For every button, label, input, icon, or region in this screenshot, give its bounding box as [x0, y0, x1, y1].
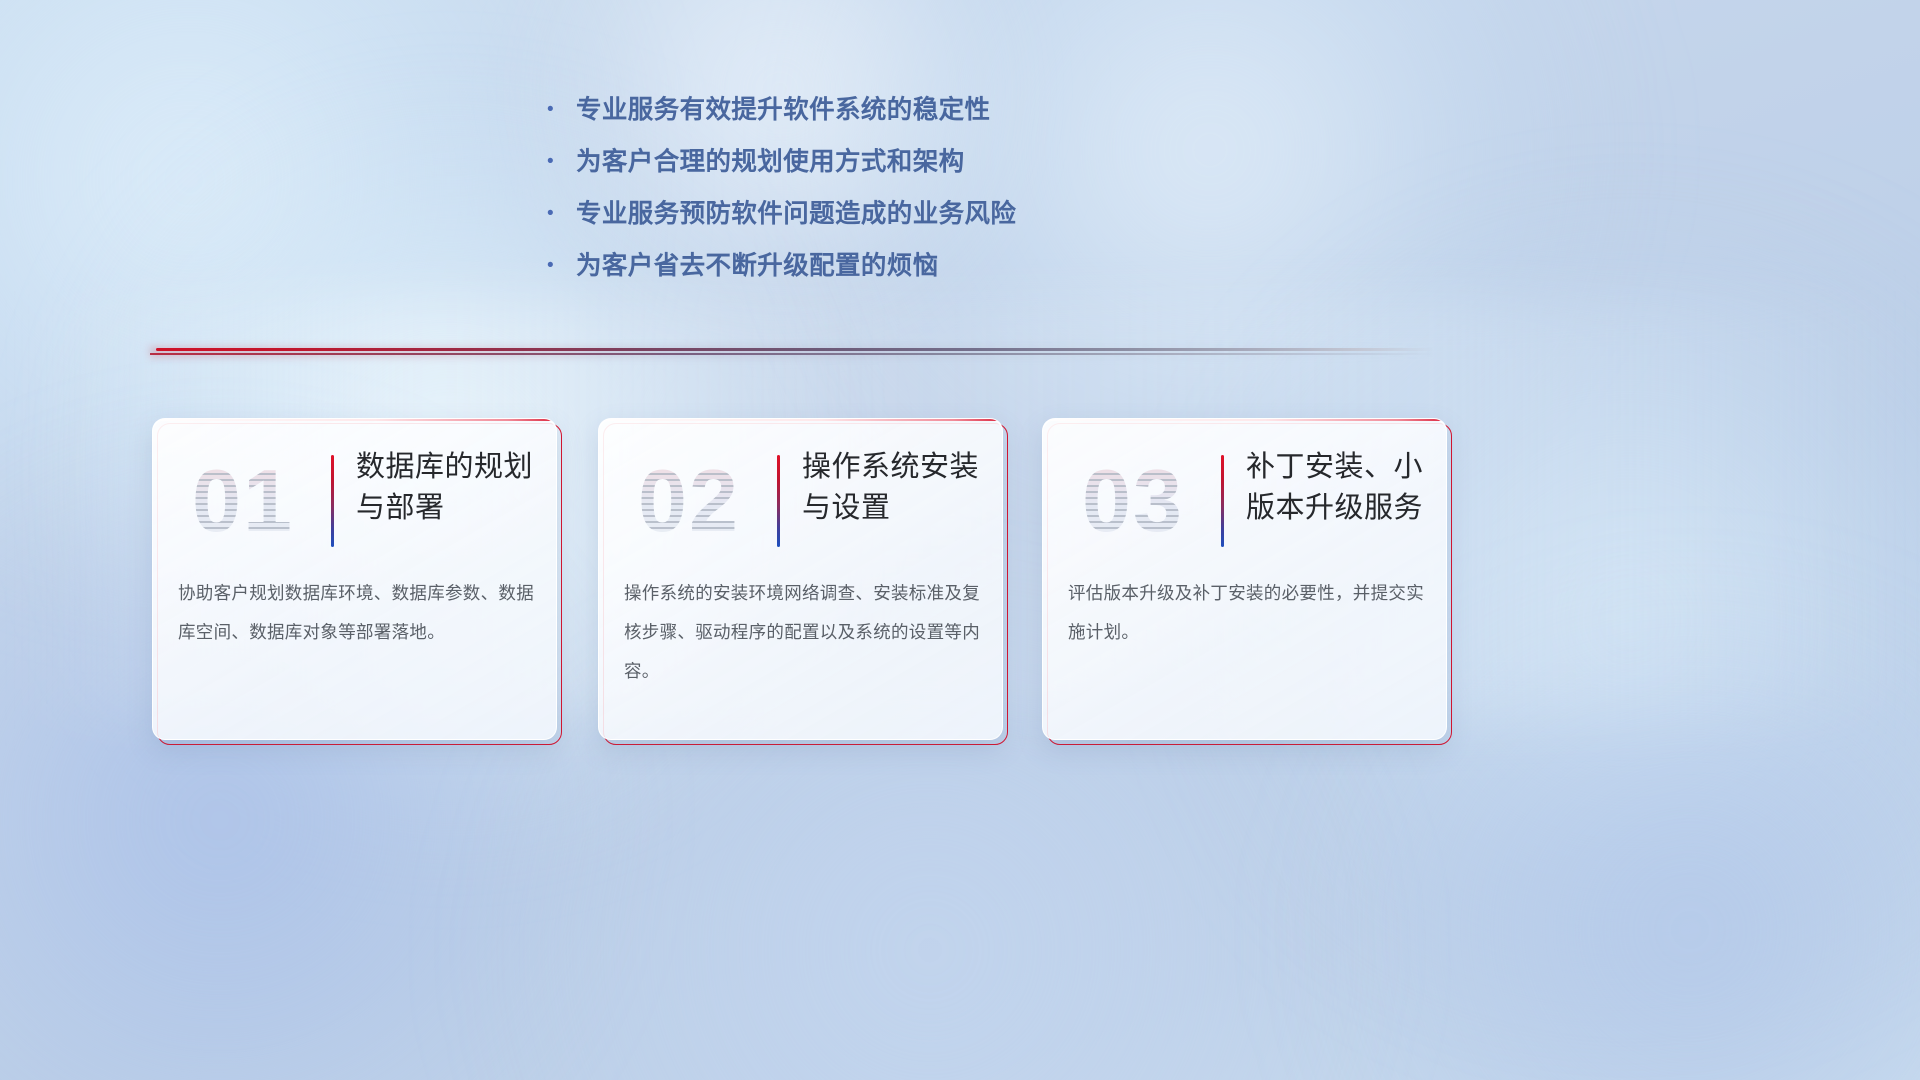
bullet-dot-icon: •	[540, 144, 576, 180]
service-card[interactable]: 03 补丁安装、小 版本升级服务 评估版本升级及补丁安装的必要性，并提交实施计划…	[1042, 418, 1447, 740]
card-panel: 03 补丁安装、小 版本升级服务 评估版本升级及补丁安装的必要性，并提交实施计划…	[1042, 418, 1447, 740]
bullet-text: 专业服务有效提升软件系统的稳定性	[576, 92, 990, 128]
card-panel: 02 操作系统安装 与设置 操作系统的安装环境网络调查、安装标准及复核步骤、驱动…	[598, 418, 1003, 740]
bullet-dot-icon: •	[540, 92, 576, 128]
service-card-group: 01 数据库的规划 与部署 协助客户规划数据库环境、数据库参数、数据库空间、数据…	[0, 418, 1920, 758]
card-number-watermark: 01	[177, 449, 309, 553]
bullet-dot-icon: •	[540, 248, 576, 284]
card-title-accent-bar	[777, 455, 780, 547]
card-title-line-2: 与设置	[802, 488, 992, 529]
card-title-accent-bar	[1221, 455, 1224, 547]
bullet-text: 为客户省去不断升级配置的烦恼	[576, 248, 939, 284]
card-title-line-1: 数据库的规划	[356, 447, 546, 488]
section-divider	[150, 343, 1440, 365]
service-card[interactable]: 01 数据库的规划 与部署 协助客户规划数据库环境、数据库参数、数据库空间、数据…	[152, 418, 557, 740]
card-title-line-2: 版本升级服务	[1246, 488, 1436, 529]
card-title: 补丁安装、小 版本升级服务	[1246, 447, 1436, 529]
card-description: 协助客户规划数据库环境、数据库参数、数据库空间、数据库对象等部署落地。	[178, 574, 538, 652]
card-panel: 01 数据库的规划 与部署 协助客户规划数据库环境、数据库参数、数据库空间、数据…	[152, 418, 557, 740]
list-item: • 为客户省去不断升级配置的烦恼	[540, 248, 1180, 300]
service-card[interactable]: 02 操作系统安装 与设置 操作系统的安装环境网络调查、安装标准及复核步骤、驱动…	[598, 418, 1003, 740]
list-item: • 专业服务预防软件问题造成的业务风险	[540, 196, 1180, 248]
card-number-watermark: 03	[1067, 449, 1199, 553]
bullet-text: 专业服务预防软件问题造成的业务风险	[576, 196, 1016, 232]
bullet-dot-icon: •	[540, 196, 576, 232]
bullet-text: 为客户合理的规划使用方式和架构	[576, 144, 965, 180]
card-title: 操作系统安装 与设置	[802, 447, 992, 529]
divider-line-secondary	[150, 353, 1434, 355]
card-description: 评估版本升级及补丁安装的必要性，并提交实施计划。	[1068, 574, 1428, 652]
card-description: 操作系统的安装环境网络调查、安装标准及复核步骤、驱动程序的配置以及系统的设置等内…	[624, 574, 984, 691]
benefit-bullet-list: • 专业服务有效提升软件系统的稳定性 • 为客户合理的规划使用方式和架构 • 专…	[540, 92, 1180, 300]
card-title-accent-bar	[331, 455, 334, 547]
card-title-line-1: 操作系统安装	[802, 447, 992, 488]
card-header: 02 操作系统安装 与设置	[599, 441, 1002, 561]
divider-line-primary	[156, 348, 1434, 351]
card-header: 03 补丁安装、小 版本升级服务	[1043, 441, 1446, 561]
card-number-watermark: 02	[623, 449, 755, 553]
list-item: • 专业服务有效提升软件系统的稳定性	[540, 92, 1180, 144]
card-title: 数据库的规划 与部署	[356, 447, 546, 529]
card-header: 01 数据库的规划 与部署	[153, 441, 556, 561]
list-item: • 为客户合理的规划使用方式和架构	[540, 144, 1180, 196]
card-title-line-2: 与部署	[356, 488, 546, 529]
card-title-line-1: 补丁安装、小	[1246, 447, 1436, 488]
